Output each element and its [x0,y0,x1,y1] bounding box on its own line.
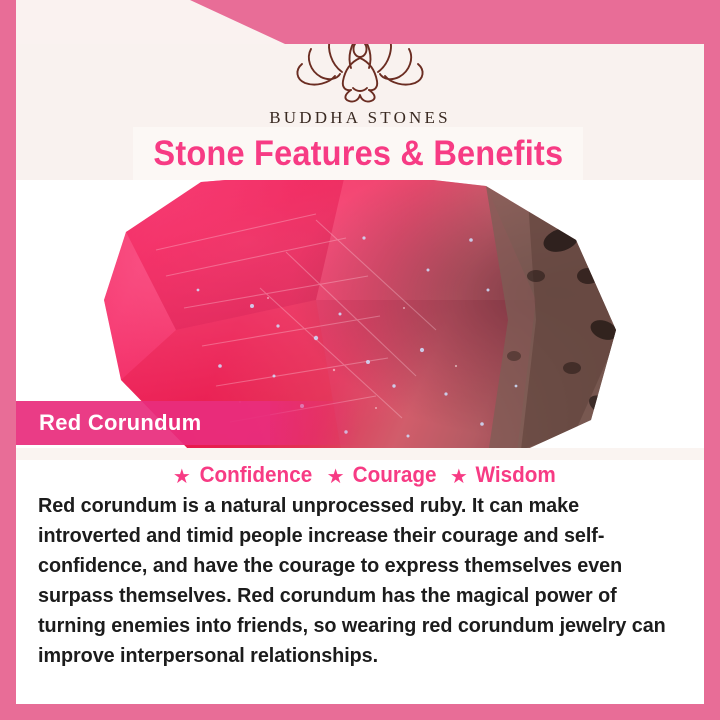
benefits-row: ★Confidence★Courage★Wisdom [16,462,704,489]
benefit-confidence: Confidence [199,462,312,488]
page-title: Stone Features & Benefits [153,134,563,174]
frame-left-border [0,0,16,720]
star-icon: ★ [327,464,345,489]
frame-right-border [704,0,720,720]
title-band: Stone Features & Benefits [133,127,583,180]
benefit-courage: Courage [352,462,436,488]
star-icon: ★ [173,464,191,489]
stone-name: Red Corundum [39,410,201,436]
stone-description: Red corundum is a natural unprocessed ru… [38,491,669,671]
stone-name-band: Red Corundum [0,401,270,445]
stone-info-poster: BUDDHA STONES Stone Features & Benefits … [0,0,720,720]
content-panel: ★Confidence★Courage★Wisdom Red corundum … [16,448,704,704]
benefit-wisdom: Wisdom [475,462,555,488]
star-icon: ★ [450,464,468,489]
frame-bottom-border [0,704,720,720]
content-top-tint [16,448,704,460]
brand-name: BUDDHA STONES [0,108,720,128]
